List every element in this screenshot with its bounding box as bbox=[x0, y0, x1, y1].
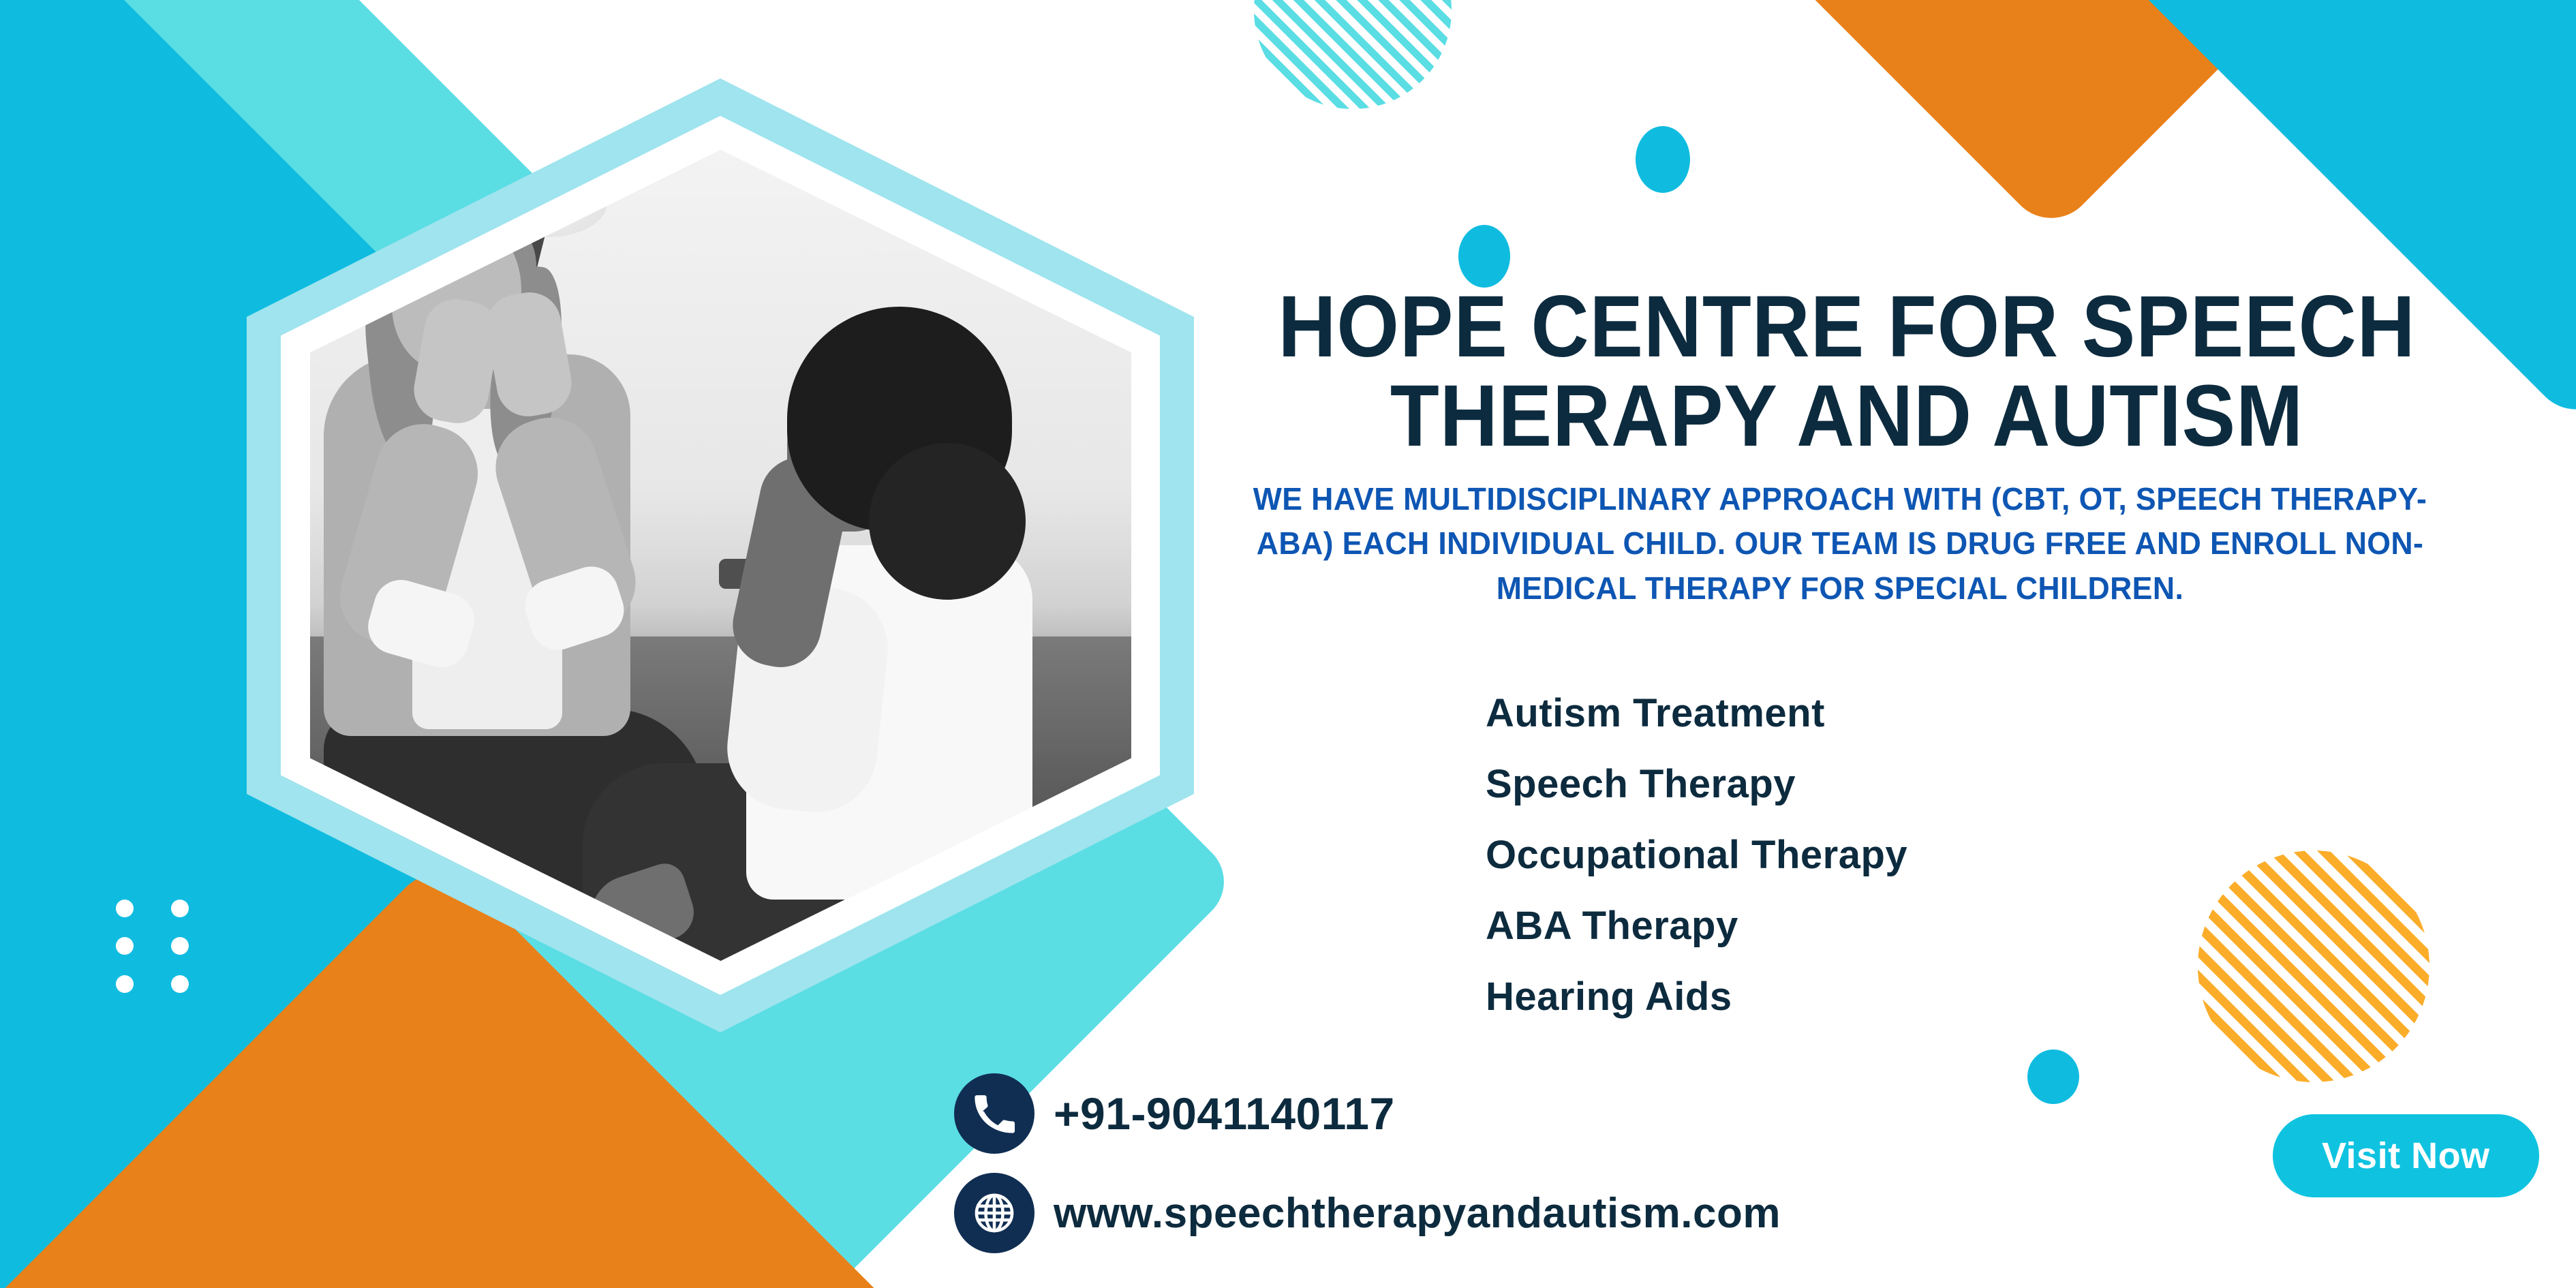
services-list: Autism Treatment Speech Therapy Occupati… bbox=[1486, 694, 2303, 1048]
page-title: HOPE CENTRE FOR SPEECH THERAPY AND AUTIS… bbox=[1251, 283, 2442, 461]
phone-icon bbox=[954, 1073, 1034, 1154]
grid-dot bbox=[171, 937, 189, 955]
visit-now-button[interactable]: Visit Now bbox=[2273, 1114, 2539, 1197]
list-item: Occupational Therapy bbox=[1486, 835, 2303, 875]
grid-dot bbox=[116, 975, 134, 993]
grid-dot bbox=[171, 975, 189, 993]
photo-child-hair-back bbox=[869, 443, 1026, 600]
contact-block: +91-9041140117 www.speechtherapyandautis… bbox=[954, 1073, 2576, 1272]
list-item: Hearing Aids bbox=[1486, 977, 2303, 1017]
hexagon-photo-frame bbox=[225, 72, 1220, 1039]
website-url: www.speechtherapyandautism.com bbox=[1054, 1189, 1781, 1238]
grid-dot bbox=[171, 900, 189, 917]
promotional-banner: HOPE CENTRE FOR SPEECH THERAPY AND AUTIS… bbox=[0, 0, 2576, 1288]
list-item: ABA Therapy bbox=[1486, 906, 2303, 946]
phone-number: +91-9041140117 bbox=[1054, 1088, 1395, 1139]
grid-dot bbox=[116, 937, 134, 955]
dot-grid-white bbox=[116, 900, 198, 995]
globe-icon bbox=[954, 1173, 1034, 1253]
list-item: Autism Treatment bbox=[1486, 694, 2303, 733]
list-item: Speech Therapy bbox=[1486, 765, 2303, 804]
grid-dot bbox=[116, 900, 134, 917]
subheadline: WE HAVE MULTIDISCIPLINARY APPROACH WITH … bbox=[1235, 477, 2444, 611]
